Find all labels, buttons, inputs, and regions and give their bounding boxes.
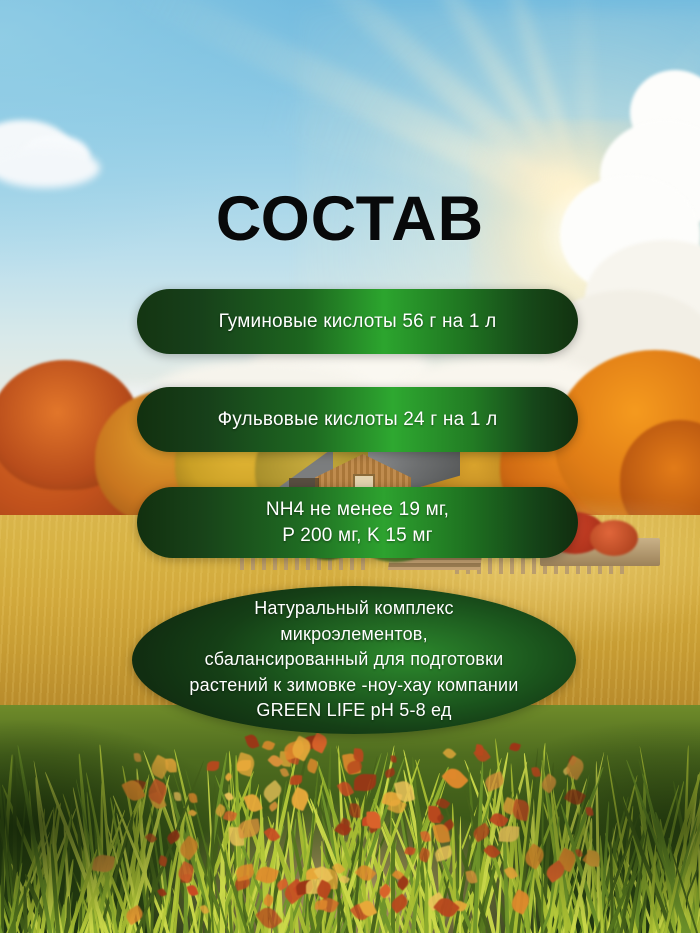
composition-item-fulvic-acids: Фульвовые кислоты 24 г на 1 л [137, 387, 578, 452]
composition-item-label: Фульвовые кислоты 24 г на 1 л [200, 407, 516, 432]
composition-item-label: NH4 не менее 19 мг, P 200 мг, K 15 мг [248, 497, 467, 548]
content-overlay: СОСТАВ Гуминовые кислоты 56 г на 1 л Фул… [0, 0, 700, 933]
composition-item-microelements: Натуральный комплекс микроэлементов, сба… [132, 586, 576, 734]
poster-canvas: СОСТАВ Гуминовые кислоты 56 г на 1 л Фул… [0, 0, 700, 933]
composition-item-npk-values: NH4 не менее 19 мг, P 200 мг, K 15 мг [137, 487, 578, 558]
composition-item-humic-acids: Гуминовые кислоты 56 г на 1 л [137, 289, 578, 354]
composition-item-label: Гуминовые кислоты 56 г на 1 л [201, 309, 515, 334]
composition-item-label: Натуральный комплекс микроэлементов, сба… [165, 596, 542, 724]
page-title: СОСТАВ [0, 188, 700, 251]
